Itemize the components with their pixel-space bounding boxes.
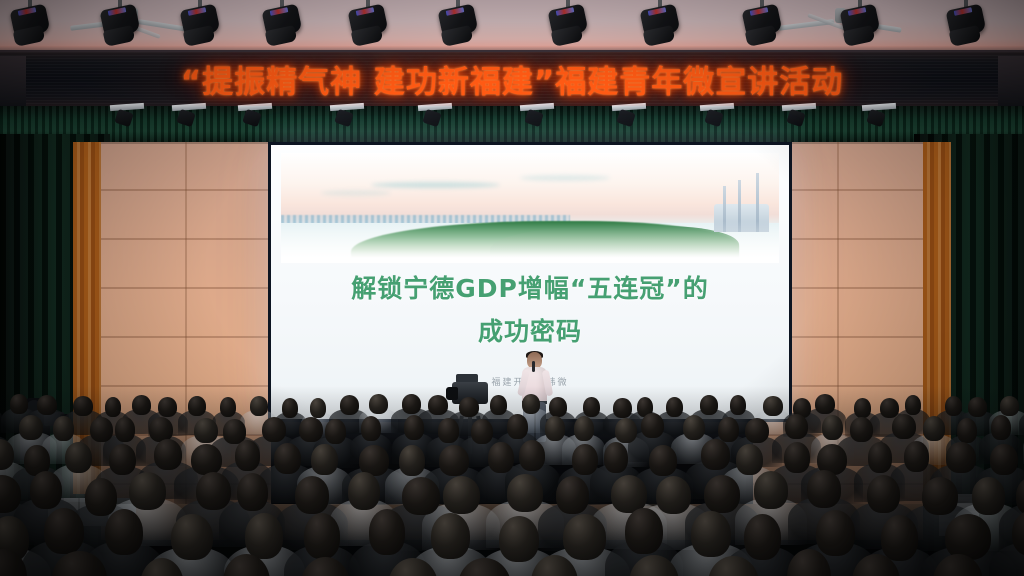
truss-stage-light	[612, 104, 646, 126]
par-stage-light	[438, 0, 478, 46]
par-stage-light	[742, 0, 782, 46]
slide-title-line-2: 成功密码	[292, 311, 769, 354]
slide-title: 解锁宁德GDP增幅“五连冠”的 成功密码	[292, 268, 769, 353]
ceiling	[0, 0, 1024, 54]
slide-title-line-1: 解锁宁德GDP增幅“五连冠”的	[292, 268, 769, 311]
truss-stage-light	[418, 104, 452, 126]
side-curtain-right	[923, 142, 951, 494]
truss-stage-light	[172, 104, 206, 126]
video-camera-on-tripod	[444, 374, 496, 454]
banner-bezel-left	[0, 56, 26, 106]
par-stage-light	[348, 0, 388, 46]
par-stage-light	[10, 0, 50, 46]
photographer	[18, 400, 72, 460]
camera-lens-icon	[446, 387, 458, 400]
truss-stage-light	[700, 104, 734, 126]
microphone-icon	[532, 361, 535, 372]
par-stage-light	[840, 0, 880, 46]
auditorium-scene: “提振精气神 建功新福建”福建青年微宣讲活动	[0, 0, 1024, 576]
truss-stage-light	[782, 104, 816, 126]
presenter	[515, 352, 555, 442]
side-curtain-left	[73, 142, 101, 494]
tripod-leg	[452, 416, 464, 454]
front-equipment-desk	[48, 498, 136, 526]
truss-stage-light	[862, 104, 896, 126]
tripod-leg	[476, 416, 488, 454]
tripod-leg	[468, 416, 472, 454]
banner-bezel-right	[998, 56, 1024, 106]
stage-equipment-rack	[10, 501, 50, 541]
par-stage-light	[946, 0, 986, 46]
par-stage-light	[640, 0, 680, 46]
truss-stage-light	[330, 104, 364, 126]
presenter-legs	[523, 402, 546, 442]
tripod-head	[467, 403, 472, 417]
par-stage-light	[548, 0, 588, 46]
truss-stage-light	[520, 104, 554, 126]
par-stage-light	[100, 0, 140, 46]
overhead-led-banner: “提振精气神 建功新福建”福建青年微宣讲活动	[0, 50, 1024, 108]
stage-side-panel	[939, 494, 979, 536]
truss-stage-light	[238, 104, 272, 126]
par-stage-light	[262, 0, 302, 46]
stage-wall-left	[101, 142, 271, 504]
dslr-camera-icon	[44, 412, 64, 426]
truss-stage-light	[110, 104, 144, 126]
slide-artwork-coastal-cityscape	[281, 153, 778, 263]
stage-floor	[101, 504, 923, 540]
par-stage-light	[180, 0, 220, 46]
banner-text: “提振精气神 建功新福建”福建青年微宣讲活动	[0, 57, 1024, 102]
